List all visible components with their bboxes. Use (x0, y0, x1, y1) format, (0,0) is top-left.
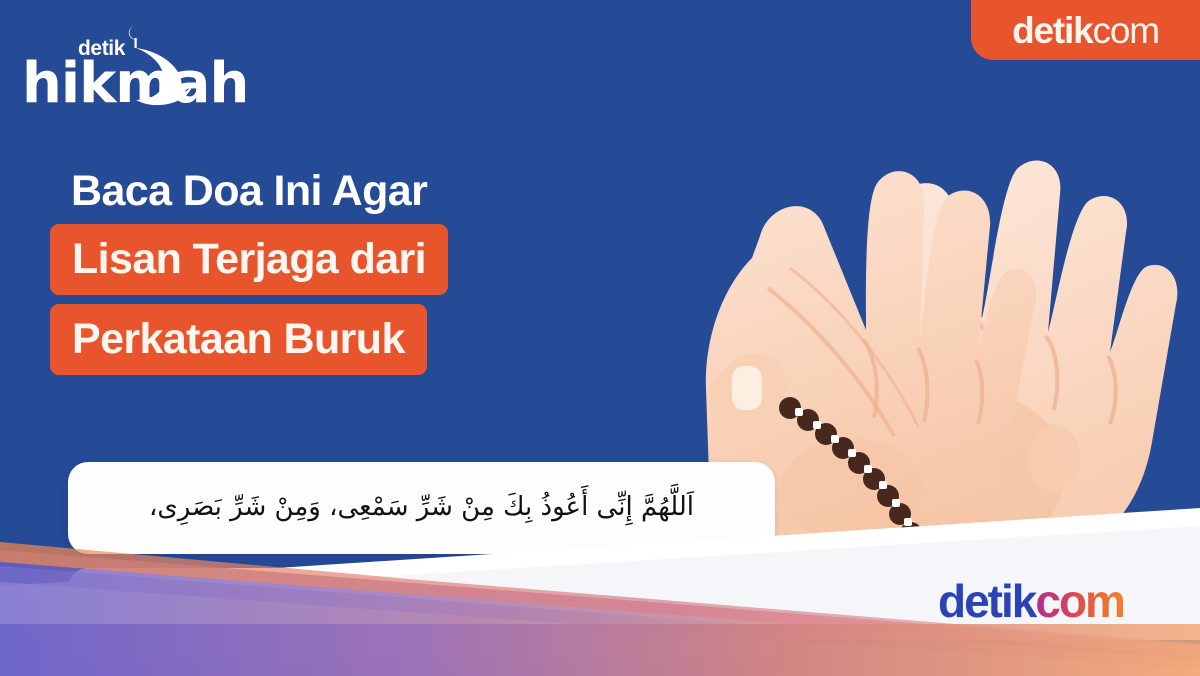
detikcom-bottom-bold-part: detik (938, 575, 1035, 627)
headline-line-3: Perkataan Buruk (50, 304, 427, 375)
doa-card-2: وَمِنْ شَرِّ لِسَانِى، وَمِنْ شَرِّ قَلْ… (68, 568, 775, 660)
poster-canvas: detik hikmah detikcom Baca Doa Ini Agar … (0, 0, 1200, 676)
doa-card-1: اَللَّهُمَّ إِنِّى أَعُوذُ بِكَ مِنْ شَر… (68, 462, 775, 554)
detikcom-bold-part: detik (1012, 10, 1092, 51)
detikcom-wordmark: detikcom (1012, 12, 1159, 49)
logo-hikmah-word: hikmah (22, 56, 248, 112)
detikcom-bottom-gradient-part: com (1035, 575, 1124, 627)
detikcom-badge-top-right: detikcom (971, 0, 1200, 60)
doa-arabic-line-1: اَللَّهُمَّ إِنِّى أَعُوذُ بِكَ مِنْ شَر… (68, 489, 775, 527)
detik-hikmah-logo: detik hikmah (16, 16, 231, 116)
headline-line-1: Baca Doa Ini Agar (49, 168, 690, 215)
doa-arabic-line-2: وَمِنْ شَرِّ لِسَانِى، وَمِنْ شَرِّ قَلْ… (68, 611, 775, 649)
headline-block: Baca Doa Ini Agar Lisan Terjaga dari Per… (50, 168, 690, 375)
headline-line-2: Lisan Terjaga dari (50, 224, 448, 295)
detikcom-watermark-bottom: detikcom (938, 578, 1124, 624)
detikcom-light-part: com (1093, 10, 1159, 51)
